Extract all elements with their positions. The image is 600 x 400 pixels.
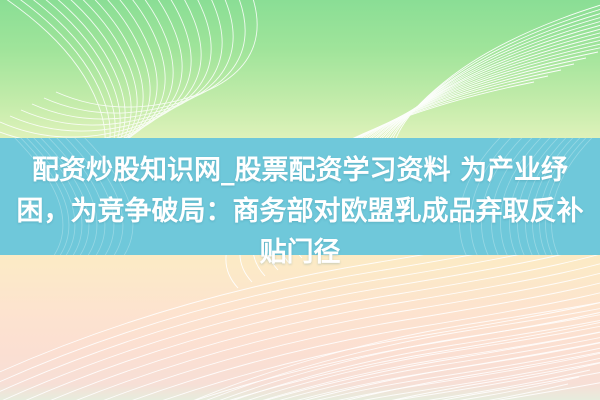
banner-headline: 配资炒股知识网_股票配资学习资料 为产业纾困，为竞争破局：商务部对欧盟乳成品弃取… (0, 150, 600, 273)
banner-thumbnail: 配资炒股知识网_股票配资学习资料 为产业纾困，为竞争破局：商务部对欧盟乳成品弃取… (0, 0, 600, 400)
